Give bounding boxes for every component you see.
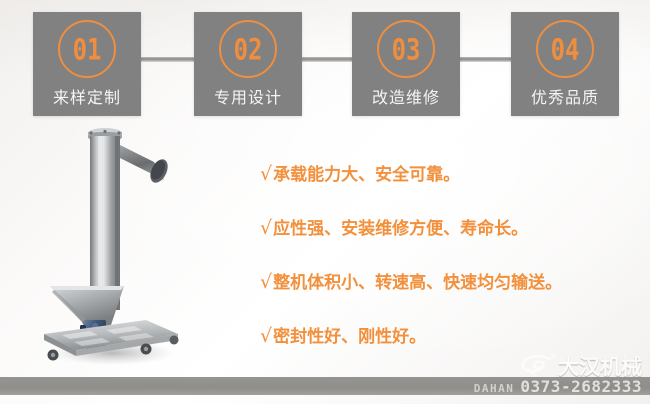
brand-watermark: ® 大汉机械 DAHAN 0373-2682333 [474,353,642,395]
promo-banner: 01 来样定制 02 专用设计 03 改造维修 04 优秀品质 [0,0,650,404]
feature-list: √ 承载能力大、安全可靠。 √ 应性强、安装维修方便、寿命长。 √ 整机体积小、… [260,160,650,376]
step-label-1: 来样定制 [33,84,141,108]
steps-row: 01 来样定制 02 专用设计 03 改造维修 04 优秀品质 [0,12,650,116]
step-number-1: 01 [73,34,102,64]
step-label-2: 专用设计 [194,84,302,108]
brand-top-row: ® 大汉机械 [520,354,642,378]
step-card-3[interactable]: 03 改造维修 [352,12,460,116]
dahan-logo-icon: ® [520,355,554,377]
step-number-4: 04 [551,34,580,64]
feature-text-1: 承载能力大、安全可靠。 [273,160,460,185]
feature-item-3: √ 整机体积小、转速高、快速均匀输送。 [260,268,650,322]
step-card-4[interactable]: 04 优秀品质 [511,12,619,116]
brand-name-en: DAHAN [474,382,515,395]
check-icon: √ [260,271,272,293]
step-badge-4: 04 [536,20,594,78]
check-icon: √ [260,163,272,185]
product-image-screw-conveyor [28,124,218,368]
step-card-1[interactable]: 01 来样定制 [33,12,141,116]
step-number-3: 03 [392,34,421,64]
step-connector-2-3 [302,57,352,62]
step-badge-2: 02 [219,20,277,78]
registered-mark: ® [551,354,556,361]
feature-text-4: 密封性好、刚性好。 [273,322,426,347]
brand-bottom-row: DAHAN 0373-2682333 [474,377,642,395]
feature-text-3: 整机体积小、转速高、快速均匀输送。 [273,268,562,293]
feature-item-2: √ 应性强、安装维修方便、寿命长。 [260,214,650,268]
brand-phone: 0373-2682333 [520,377,642,396]
step-badge-1: 01 [58,20,116,78]
step-card-2[interactable]: 02 专用设计 [194,12,302,116]
feature-text-2: 应性强、安装维修方便、寿命长。 [273,214,528,239]
step-label-4: 优秀品质 [511,84,619,108]
check-icon: √ [260,217,272,239]
step-label-3: 改造维修 [352,84,460,108]
step-number-2: 02 [234,34,263,64]
step-badge-3: 03 [377,20,435,78]
step-connector-1-2 [140,57,194,62]
step-connector-3-4 [460,57,511,62]
feature-item-1: √ 承载能力大、安全可靠。 [260,160,650,214]
check-icon: √ [260,325,272,347]
